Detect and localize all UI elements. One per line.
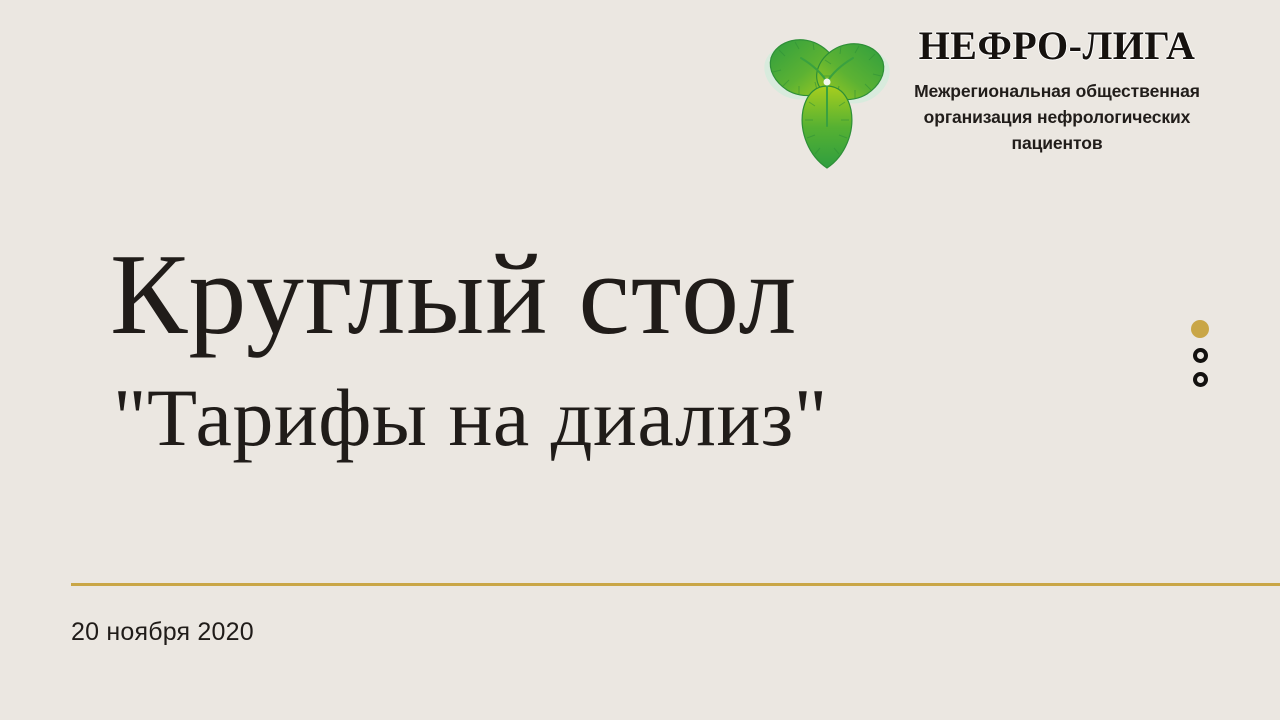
slide-title-line-1: Круглый стол	[110, 236, 1010, 354]
logo-tagline-line-1: Межрегиональная общественная	[887, 78, 1227, 104]
dot-ring-icon-1	[1193, 348, 1208, 363]
footer-divider	[71, 583, 1280, 586]
logo-tagline-line-3: пациентов	[887, 130, 1227, 156]
organization-logo: НЕФРО-ЛИГА Межрегиональная общественная …	[757, 18, 1227, 208]
slide-title-line-2: "Тарифы на диализ"	[113, 376, 1010, 460]
slide-title-block: Круглый стол "Тарифы на диализ"	[110, 236, 1010, 460]
logo-tagline: Межрегиональная общественная организация…	[887, 78, 1227, 156]
decorative-dots	[1191, 320, 1215, 400]
logo-name: НЕФРО-ЛИГА	[887, 18, 1227, 74]
logo-text-block: НЕФРО-ЛИГА Межрегиональная общественная …	[887, 18, 1227, 156]
presentation-slide: НЕФРО-ЛИГА Межрегиональная общественная …	[0, 0, 1280, 720]
clover-leaf-icon	[757, 22, 897, 172]
logo-tagline-line-2: организация нефрологических	[887, 104, 1227, 130]
dot-filled-icon	[1191, 320, 1209, 338]
slide-date: 20 ноября 2020	[71, 616, 254, 648]
dot-ring-icon-2	[1193, 372, 1208, 387]
